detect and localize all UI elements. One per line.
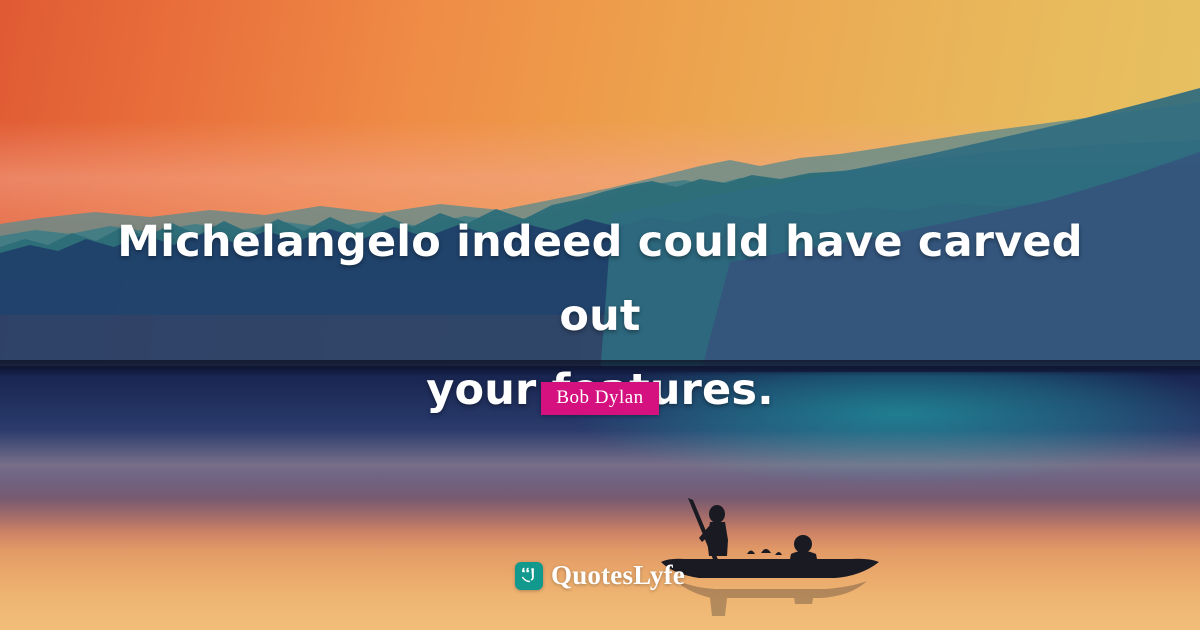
quoteslyfe-logo[interactable]: QuotesLyfe: [515, 560, 685, 591]
logo-text: QuotesLyfe: [551, 560, 685, 591]
author-badge[interactable]: Bob Dylan: [541, 382, 658, 415]
canoe-silhouette-icon: [655, 492, 885, 622]
quote-smiley-icon: [515, 562, 543, 590]
quote-image-card: Michelangelo indeed could have carved ou…: [0, 0, 1200, 630]
water-sheen: [0, 430, 1200, 500]
